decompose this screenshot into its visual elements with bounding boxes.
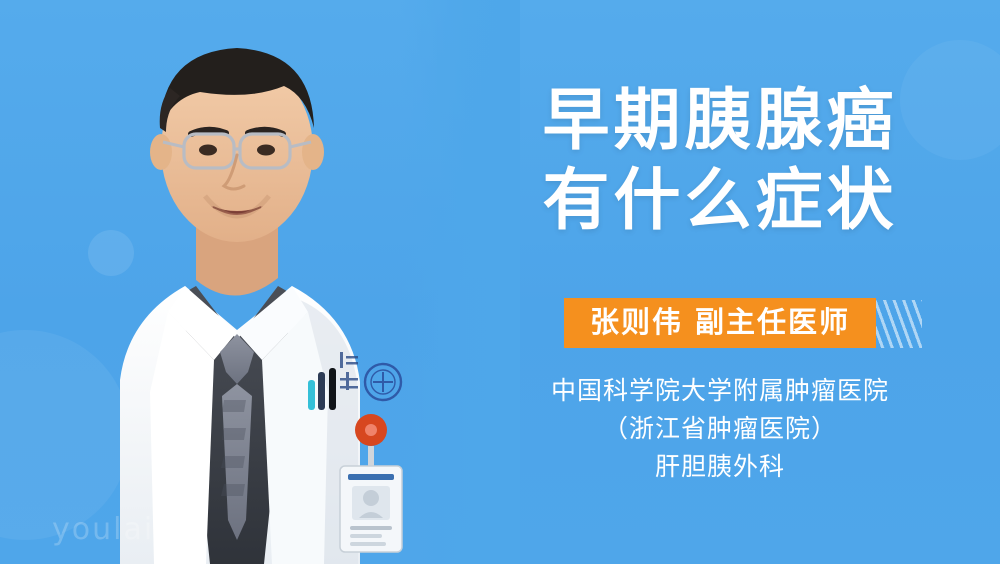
poster-canvas: 早期胰腺癌 有什么症状 张则伟 副主任医师 中国科学院大学附属肿瘤医院 （浙江省… [0, 0, 1000, 564]
affiliation-line-3: 肝胆胰外科 [455, 448, 985, 486]
name-bar-wrap: 张则伟 副主任医师 [455, 298, 985, 348]
affiliation-line-2: （浙江省肿瘤医院） [455, 410, 985, 448]
title-block: 早期胰腺癌 有什么症状 [455, 80, 985, 240]
title-line-2: 有什么症状 [455, 160, 985, 240]
affiliation-line-1: 中国科学院大学附属肿瘤医院 [455, 372, 985, 410]
watermark-text: youlai.cn [52, 512, 205, 547]
doctor-name-badge: 张则伟 副主任医师 [564, 298, 876, 348]
affiliation-block: 中国科学院大学附属肿瘤医院 （浙江省肿瘤医院） 肝胆胰外科 [455, 372, 985, 486]
title-line-1: 早期胰腺癌 [455, 80, 985, 160]
